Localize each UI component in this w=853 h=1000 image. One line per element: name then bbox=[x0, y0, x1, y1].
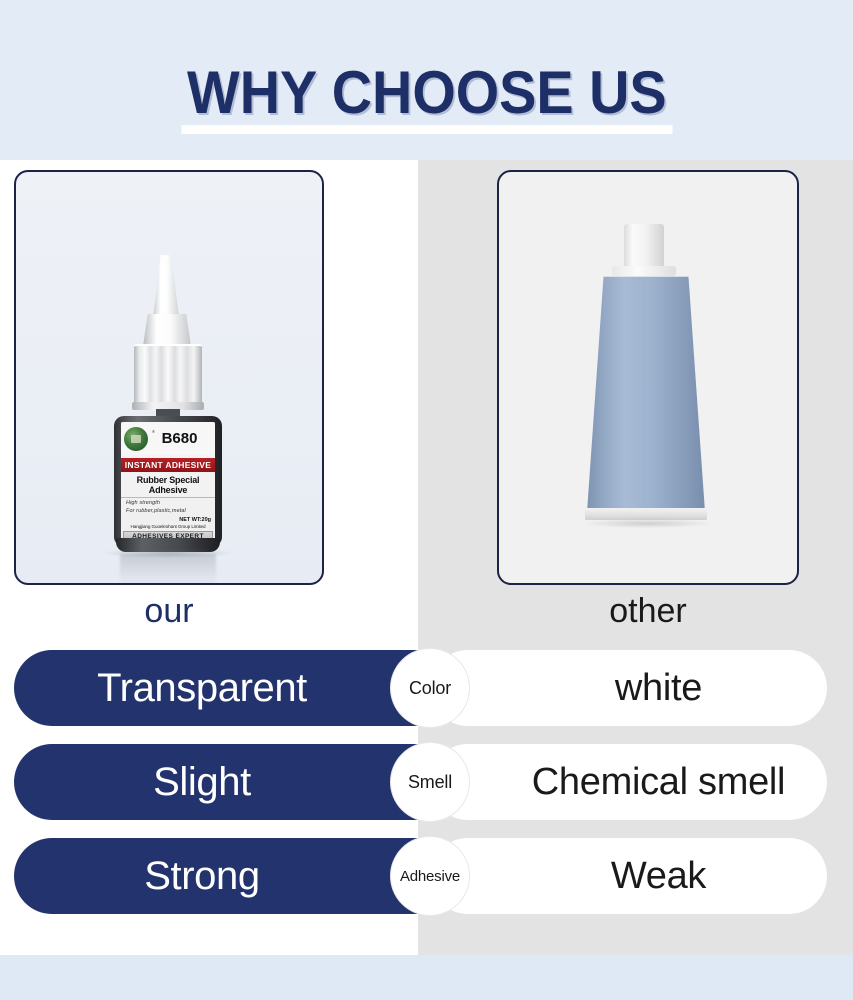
attribute-badge: Smell bbox=[390, 742, 470, 822]
bottle-nozzle bbox=[153, 255, 179, 317]
bottle-ribbed-cap bbox=[134, 344, 202, 406]
page-title-wrapper: WHY CHOOSE US bbox=[0, 62, 853, 134]
infographic-root: WHY CHOOSE US ® B680 GUOELEOHANT® INSTAN… bbox=[0, 0, 853, 1000]
caption-ours: our bbox=[14, 592, 324, 631]
attribute-badge: Color bbox=[390, 648, 470, 728]
tube-cap bbox=[624, 224, 664, 268]
competitor-value-text: Chemical smell bbox=[532, 761, 785, 804]
attribute-label: Color bbox=[409, 678, 451, 699]
tube-shadow bbox=[583, 519, 711, 528]
manufacturer-name: Hangjiang Guoeleohant Group Limited bbox=[121, 523, 215, 529]
header-band: WHY CHOOSE US bbox=[0, 0, 853, 160]
attribute-label: Adhesive bbox=[400, 868, 460, 885]
product-uses: For rubber,plastic,metal bbox=[121, 506, 215, 514]
comparison-row: Chemical smell Slight Smell bbox=[0, 744, 853, 820]
product-code: B680 bbox=[148, 430, 215, 447]
adhesive-bottle-illustration: ® B680 GUOELEOHANT® INSTANT ADHESIVE Rub… bbox=[16, 172, 322, 583]
comparison-row: Weak Strong Adhesive bbox=[0, 838, 853, 914]
competitor-value-pill: Chemical smell bbox=[430, 744, 827, 820]
footer-band bbox=[0, 955, 853, 1000]
registered-trademark-icon: ® bbox=[152, 429, 155, 434]
product-image-panel-other bbox=[497, 170, 799, 585]
product-name: Rubber Special Adhesive bbox=[121, 472, 215, 498]
bottle-reflection bbox=[120, 554, 216, 585]
label-top-row: ® B680 bbox=[121, 422, 215, 455]
attribute-badge: Adhesive bbox=[390, 836, 470, 916]
bottle-label: ® B680 GUOELEOHANT® INSTANT ADHESIVE Rub… bbox=[121, 422, 215, 540]
attribute-label: Smell bbox=[408, 772, 452, 793]
page-title: WHY CHOOSE US bbox=[181, 62, 672, 134]
product-feature: High strength bbox=[121, 498, 215, 506]
tube-body bbox=[587, 272, 705, 512]
our-value-text: Transparent bbox=[97, 666, 307, 711]
competitor-value-text: Weak bbox=[611, 855, 706, 898]
comparison-row: white Transparent Color bbox=[0, 650, 853, 726]
product-net-weight: NET WT:20g bbox=[121, 514, 215, 523]
competitor-value-pill: white bbox=[430, 650, 827, 726]
product-image-panel-ours: ® B680 GUOELEOHANT® INSTANT ADHESIVE Rub… bbox=[14, 170, 324, 585]
brand-logo-icon: ® bbox=[124, 427, 148, 451]
competitor-value-pill: Weak bbox=[430, 838, 827, 914]
competitor-tube-illustration bbox=[499, 172, 797, 583]
tube-shoulder bbox=[612, 266, 676, 276]
our-value-text: Slight bbox=[153, 760, 251, 805]
our-value-text: Strong bbox=[144, 854, 259, 899]
competitor-value-text: white bbox=[615, 667, 702, 710]
caption-other: other bbox=[497, 592, 799, 631]
bottle-collar bbox=[143, 314, 191, 346]
label-banner: INSTANT ADHESIVE bbox=[121, 458, 215, 472]
